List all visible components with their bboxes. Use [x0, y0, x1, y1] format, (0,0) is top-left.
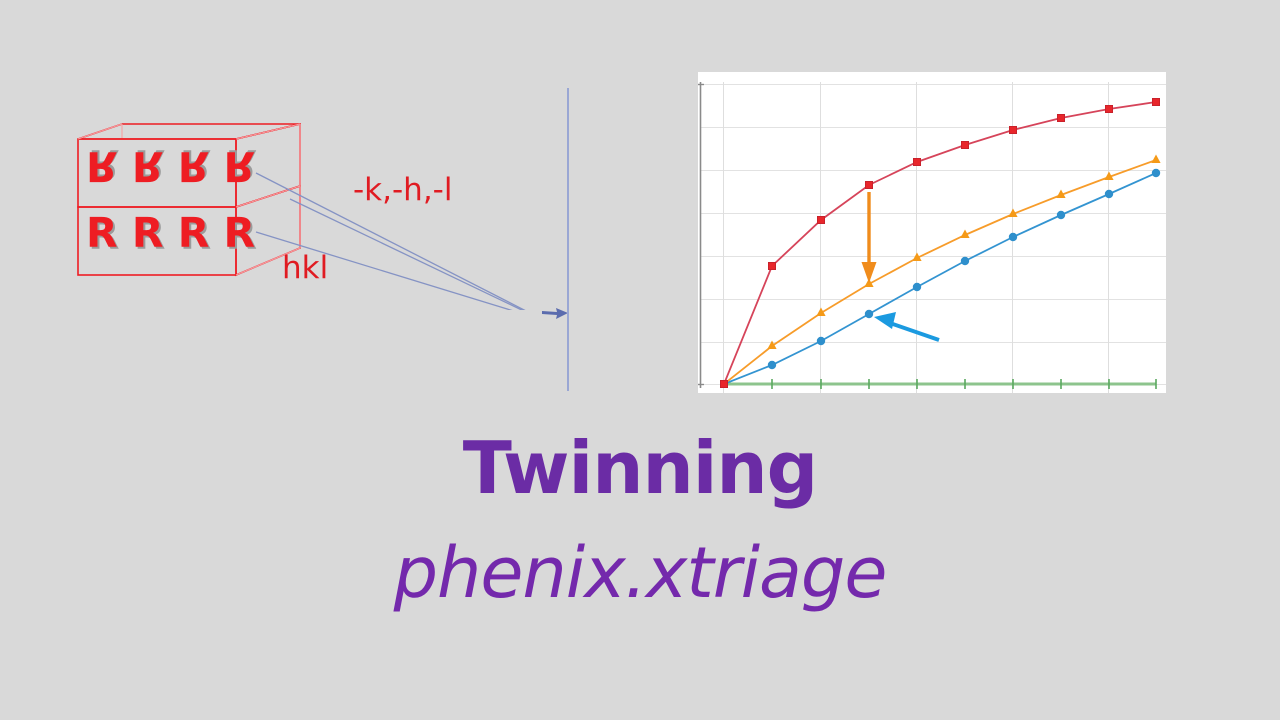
intensity-statistics-chart: [698, 72, 1166, 393]
lattice-row-flipped: R R R R: [86, 145, 255, 186]
plot-background: [698, 72, 1166, 393]
ray-arrowheads: [480, 290, 590, 340]
slide-canvas: R R R R R R R R hkl -k,-h,-l: [0, 0, 1280, 720]
page-subtitle: phenix.xtriage: [0, 538, 1280, 608]
lattice-row-normal: R R R R: [86, 213, 255, 254]
label-hkl: hkl: [282, 253, 328, 284]
lattice-row-flipped-text: R R R R: [86, 145, 255, 186]
twin-domain-crystal-diagram: R R R R R R R R hkl -k,-h,-l: [60, 120, 560, 310]
lattice-row-normal-text: R R R R: [86, 213, 255, 254]
label-minus-k-minus-h-minus-l: -k,-h,-l: [353, 175, 452, 206]
page-title: Twinning: [0, 432, 1280, 504]
chart-plot-area: [698, 72, 1166, 393]
detector-line: [567, 88, 569, 391]
